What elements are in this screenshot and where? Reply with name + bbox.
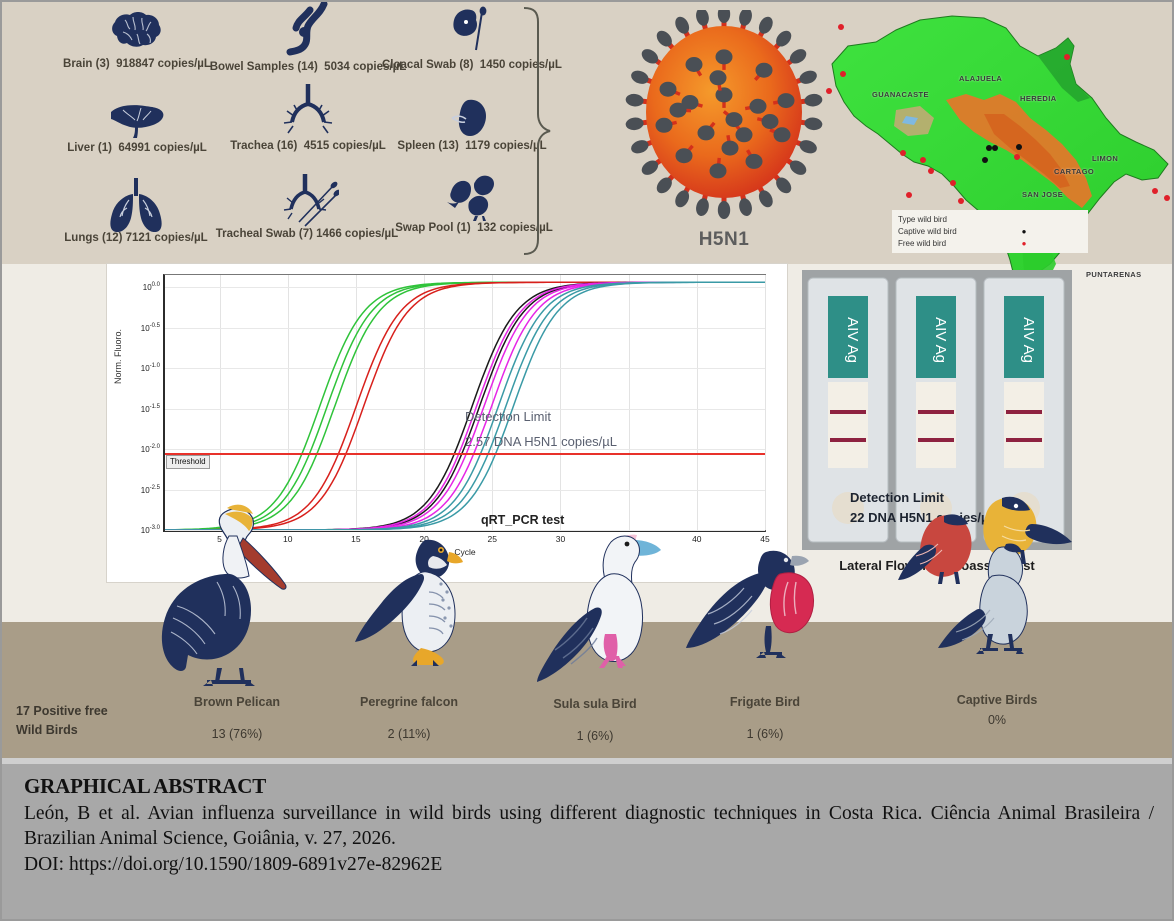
caption-citation: León, B et al. Avian influenza surveilla… <box>24 801 1154 852</box>
sample-name: Liver <box>67 142 95 154</box>
map-legend-title: Type wild bird <box>898 215 1016 224</box>
chart-threshold-label: Threshold <box>166 455 210 469</box>
sample-item-brain: Brain (3) 918847 copies/µL <box>42 10 232 70</box>
bird-item-brown-pelican: Brown Pelican 13 (76%) <box>142 490 332 741</box>
bird-item-frigate-bird: Frigate Bird 1 (6%) <box>680 540 850 741</box>
map-legend-row-captive: Captive wild bird ● <box>898 225 1082 237</box>
sample-value: 7121 copies/µL <box>126 232 208 244</box>
map-dot-free-wild-bird <box>1064 54 1070 60</box>
cassette-label: AIV Ag <box>844 317 861 363</box>
sample-count: (1) <box>98 142 112 154</box>
map-dot-free-wild-bird <box>840 71 846 77</box>
sample-count: (7) <box>299 228 313 240</box>
sample-count: (8) <box>459 59 473 71</box>
map-legend-label-free: Free wild bird <box>898 239 1016 248</box>
graphical-abstract-page: Brain (3) 918847 copies/µL Bowel Samples… <box>0 0 1174 921</box>
map-label-heredia: HEREDIA <box>1020 94 1057 103</box>
sample-count: (3) <box>96 58 110 70</box>
y-tick-label: 10-2.0 <box>141 444 160 454</box>
detection-limit-value: 2.57 DNA H5N1 copies/µL <box>465 430 617 455</box>
chart-detection-limit-annotation: Detection Limit 2.57 DNA H5N1 copies/µL <box>465 405 617 454</box>
sample-item-liver: Liver (1) 64991 copies/µL <box>42 102 232 154</box>
map-label-puntarenas: PUNTARENAS <box>1086 270 1142 279</box>
virus-label: H5N1 <box>614 229 834 251</box>
y-tick-label: 10-1.5 <box>141 404 160 414</box>
map-legend-label-captive: Captive wild bird <box>898 227 1016 236</box>
map-dot-free-wild-bird <box>906 192 912 198</box>
liver-icon <box>107 102 167 142</box>
map-legend-title-row: Type wild bird <box>898 213 1082 225</box>
map-legend: Type wild bird Captive wild bird ● Free … <box>892 210 1088 253</box>
sample-item-bowel: Bowel Samples (14) 5034 copies/µL <box>208 2 408 75</box>
map-dot-captive-wild-bird <box>982 157 988 163</box>
sample-item-trachea: Trachea (16) 4515 copies/µL <box>208 82 408 152</box>
sample-item-tracheal-swab: Tracheal Swab (7) 1466 copies/µL <box>202 172 412 240</box>
cassette-label: AIV Ag <box>932 317 949 363</box>
map-dot-free-wild-bird <box>826 88 832 94</box>
bird-value: 2 (11%) <box>324 727 494 741</box>
map-dot-free-wild-bird <box>1152 188 1158 194</box>
sample-panel: Brain (3) 918847 copies/µL Bowel Samples… <box>2 2 562 264</box>
caption-block: GRAPHICAL ABSTRACT León, B et al. Avian … <box>2 764 1174 921</box>
cassette-label: AIV Ag <box>1020 317 1037 363</box>
virus-illustration: H5N1 <box>614 10 834 250</box>
sample-name: Swap Pool <box>395 222 453 234</box>
sample-value: 4515 copies/µL <box>304 140 386 152</box>
cassette-control-line <box>1006 410 1042 414</box>
sample-name: Trachea <box>230 140 273 152</box>
map-dot-captive-wild-bird <box>1016 144 1022 150</box>
map-legend-symbol-captive: ● <box>1016 227 1032 236</box>
sample-count: (16) <box>277 140 297 152</box>
map-label-alajuela: ALAJUELA <box>959 74 1002 83</box>
booby-icon <box>515 522 675 692</box>
map-legend-row-free: Free wild bird ● <box>898 237 1082 249</box>
y-tick-label: 10-1.0 <box>141 363 160 373</box>
bird-value: 1 (6%) <box>510 729 680 743</box>
map-dot-free-wild-bird <box>838 24 844 30</box>
detection-limit-title: Detection Limit <box>465 405 617 430</box>
trachea-icon <box>276 82 340 140</box>
map-label-san-jose: SAN JOSE <box>1022 190 1063 199</box>
cassette-test-line <box>830 438 866 442</box>
red-bird-icon <box>898 514 971 584</box>
sample-count: (13) <box>438 140 458 152</box>
caption-doi: DOI: https://doi.org/10.1590/1809-6891v2… <box>24 852 1154 877</box>
pelican-icon <box>147 490 327 690</box>
sample-count: (12) <box>102 232 122 244</box>
bird-item-captive-birds: Captive Birds 0% <box>892 492 1102 727</box>
sample-name: Brain <box>63 58 92 70</box>
swab-pool-icon <box>445 174 503 222</box>
map-label-guanacaste: GUANACASTE <box>872 90 929 99</box>
bird-value: 13 (76%) <box>142 727 332 741</box>
y-tick-label: 10-0.5 <box>141 323 160 333</box>
lungs-icon <box>105 178 167 232</box>
bird-item-sula-sula: Sula sula Bird 1 (6%) <box>510 522 680 743</box>
falcon-icon <box>329 530 489 690</box>
panel-brace-icon <box>522 6 556 256</box>
cloacal-swab-icon <box>442 6 498 58</box>
cassette-result-window <box>916 382 956 468</box>
sample-name: Spleen <box>397 140 435 152</box>
sample-count: (14) <box>297 61 317 73</box>
y-tick-label: 100.0 <box>143 282 160 292</box>
bird-name: Frigate Bird <box>680 695 850 709</box>
bird-name: Peregrine falcon <box>324 695 494 709</box>
bird-value: 0% <box>892 713 1102 727</box>
captive-birds-icon <box>892 492 1102 692</box>
caption-title: GRAPHICAL ABSTRACT <box>24 774 1154 799</box>
map-label-limon: LIMON <box>1092 154 1118 163</box>
sample-value: 64991 copies/µL <box>118 142 206 154</box>
cassette-control-line <box>918 410 954 414</box>
brain-icon <box>107 10 167 58</box>
cassette-result-window <box>1004 382 1044 468</box>
bird-item-peregrine-falcon: Peregrine falcon 2 (11%) <box>324 530 494 741</box>
map-dot-free-wild-bird <box>958 198 964 204</box>
map-dot-free-wild-bird <box>928 168 934 174</box>
sample-name: Tracheal Swab <box>216 228 296 240</box>
frigate-icon <box>680 540 850 690</box>
cassette-test-line <box>1006 438 1042 442</box>
virus-icon <box>614 10 834 220</box>
costa-rica-map: GUANACASTE ALAJUELA HEREDIA LIMON CARTAG… <box>824 2 1174 292</box>
bowel-icon <box>280 2 336 60</box>
tracheal-swab-icon <box>275 172 339 228</box>
map-dot-free-wild-bird <box>920 157 926 163</box>
map-dot-captive-wild-bird <box>992 145 998 151</box>
bird-value: 1 (6%) <box>680 727 850 741</box>
map-dot-free-wild-bird <box>900 150 906 156</box>
sample-count: (1) <box>457 222 471 234</box>
chart-y-axis-label: Norm. Fluoro. <box>113 329 123 384</box>
sample-name: Bowel Samples <box>210 61 294 73</box>
bird-name: Sula sula Bird <box>510 697 680 711</box>
spleen-icon <box>448 98 496 140</box>
map-dot-free-wild-bird <box>1014 154 1020 160</box>
map-label-cartago: CARTAGO <box>1054 167 1094 176</box>
bird-species-row: Brown Pelican 13 (76%) <box>2 482 1174 758</box>
cassette-result-window <box>828 382 868 468</box>
sample-name: Cloacal Swab <box>382 59 456 71</box>
bird-name: Brown Pelican <box>142 695 332 709</box>
map-dot-free-wild-bird <box>950 180 956 186</box>
sample-name: Lungs <box>64 232 99 244</box>
cassette-control-line <box>830 410 866 414</box>
map-dot-free-wild-bird <box>1164 195 1170 201</box>
cassette-test-line <box>918 438 954 442</box>
map-legend-symbol-free: ● <box>1016 239 1032 248</box>
sample-value: 918847 copies/µL <box>116 58 211 70</box>
bird-name: Captive Birds <box>892 693 1102 707</box>
